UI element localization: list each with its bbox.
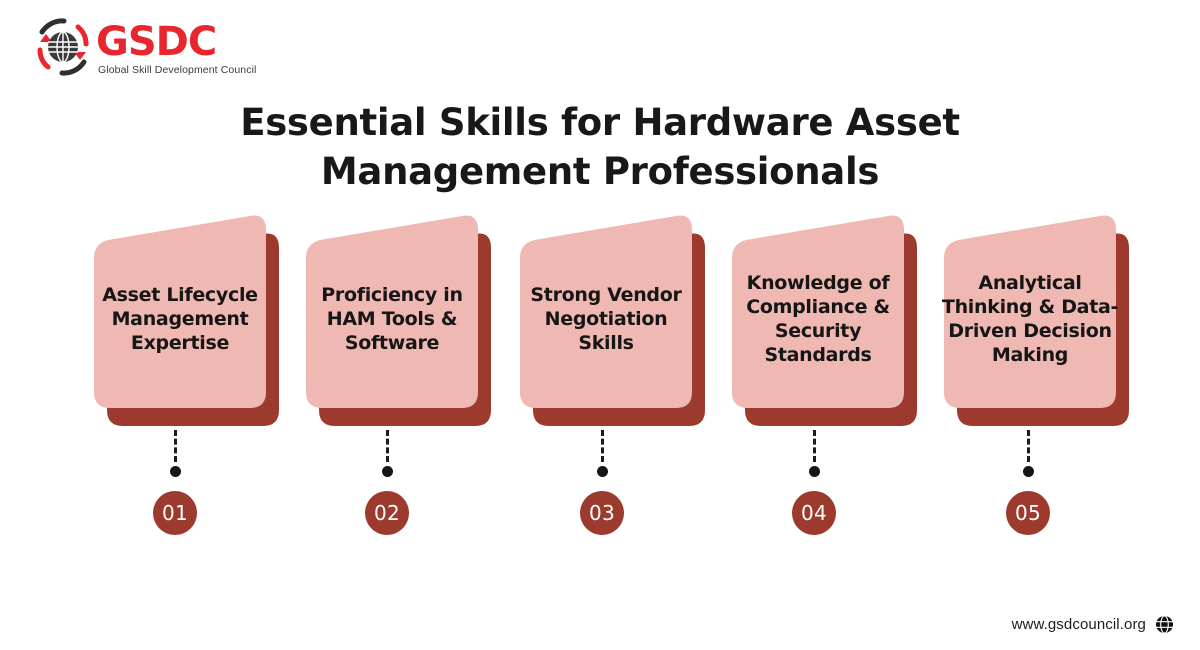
skill-card-label: Knowledge of Compliance & Security Stand…: [726, 212, 910, 412]
connector-dot-icon: [170, 466, 181, 477]
step-number-badge[interactable]: 04: [792, 491, 836, 535]
connector-2: 02: [357, 430, 417, 535]
skill-card-4[interactable]: Knowledge of Compliance & Security Stand…: [718, 212, 918, 434]
logo-wordmark: GSDC: [96, 20, 216, 64]
connector-3: 03: [572, 430, 632, 535]
step-number-badge[interactable]: 01: [153, 491, 197, 535]
gsdc-logo: GSDC Global Skill Development Council: [34, 16, 294, 80]
step-number-badge[interactable]: 03: [580, 491, 624, 535]
dotted-line: [601, 430, 604, 462]
connector-dot-icon: [382, 466, 393, 477]
connector-dot-icon: [809, 466, 820, 477]
dotted-line: [386, 430, 389, 462]
globe-logo-icon: [34, 18, 92, 76]
skill-card-5[interactable]: Analytical Thinking & Data-Driven Decisi…: [930, 212, 1130, 434]
globe-icon: [1155, 615, 1174, 634]
dotted-line: [174, 430, 177, 462]
connector-dot-icon: [597, 466, 608, 477]
logo-tagline: Global Skill Development Council: [98, 64, 256, 76]
skill-card-1[interactable]: Asset Lifecycle Management Expertise: [80, 212, 280, 434]
dotted-line: [1027, 430, 1030, 462]
dotted-line: [813, 430, 816, 462]
skill-card-label: Asset Lifecycle Management Expertise: [88, 212, 272, 412]
skill-card-label: Analytical Thinking & Data-Driven Decisi…: [938, 212, 1122, 412]
website-url[interactable]: www.gsdcouncil.org: [1012, 616, 1146, 633]
connector-1: 01: [145, 430, 205, 535]
skills-card-row: Asset Lifecycle Management Expertise Pro…: [0, 212, 1200, 442]
skill-card-label: Proficiency in HAM Tools & Software: [300, 212, 484, 412]
skill-card-2[interactable]: Proficiency in HAM Tools & Software: [292, 212, 492, 434]
connector-dot-icon: [1023, 466, 1034, 477]
step-number-badge[interactable]: 05: [1006, 491, 1050, 535]
skill-card-3[interactable]: Strong Vendor Negotiation Skills: [506, 212, 706, 434]
step-number-badge[interactable]: 02: [365, 491, 409, 535]
skill-card-label: Strong Vendor Negotiation Skills: [514, 212, 698, 412]
connector-5: 05: [998, 430, 1058, 535]
footer: www.gsdcouncil.org: [1012, 615, 1174, 634]
connector-4: 04: [784, 430, 844, 535]
page-title: Essential Skills for Hardware Asset Mana…: [140, 98, 1060, 196]
